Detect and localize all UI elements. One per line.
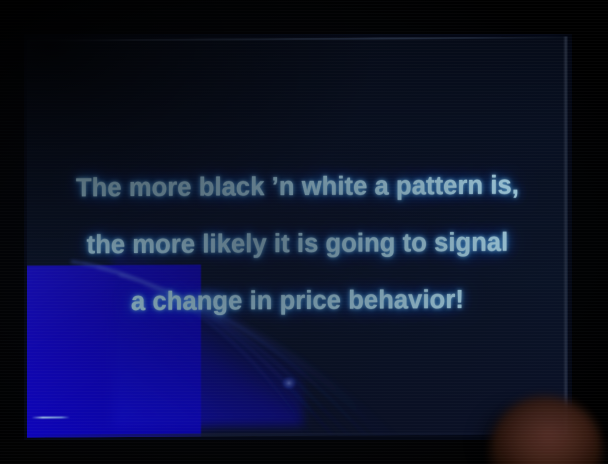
bottom-left-light-streak bbox=[32, 417, 70, 419]
slide-line-2: the more likely it is going to signal bbox=[87, 228, 509, 260]
room-dark-right bbox=[572, 0, 608, 464]
slide-line-1: The more black ’n white a pattern is, bbox=[76, 171, 519, 203]
projection-screen: The more black ’n white a pattern is, th… bbox=[27, 36, 568, 437]
room-dark-top bbox=[0, 0, 608, 34]
slide-text-block: The more black ’n white a pattern is, th… bbox=[27, 36, 568, 437]
slide-line-3: a change in price behavior! bbox=[131, 285, 464, 316]
room-dark-left bbox=[0, 0, 24, 464]
photo-frame: The more black ’n white a pattern is, th… bbox=[0, 0, 608, 464]
